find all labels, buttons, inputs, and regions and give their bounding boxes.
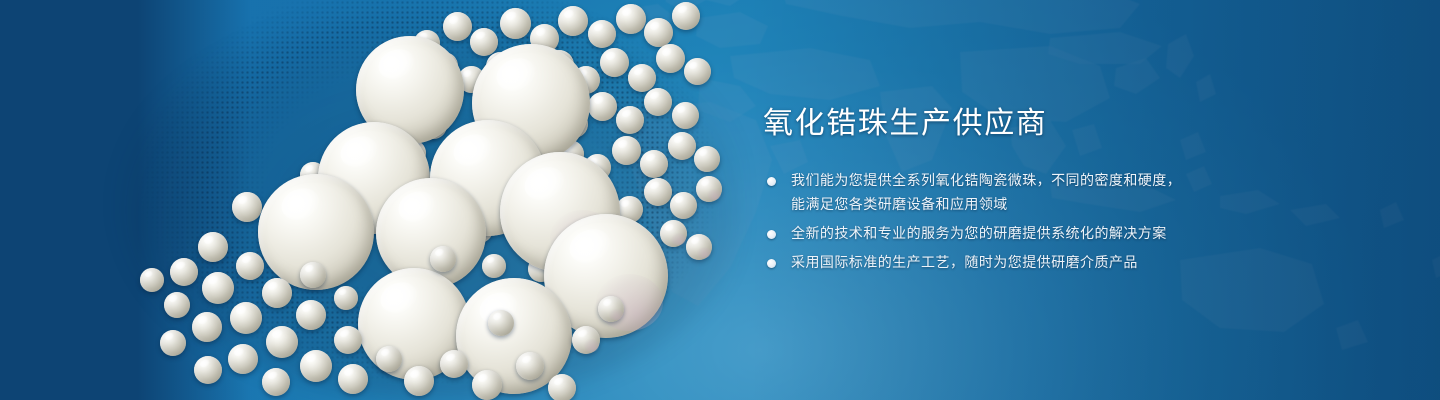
list-item-line: 我们能为您提供全系列氧化锆陶瓷微珠，不同的密度和硬度， [791,169,1383,193]
banner-text-column: 氧化锆珠生产供应商 我们能为您提供全系列氧化锆陶瓷微珠，不同的密度和硬度， 能满… [763,104,1383,280]
list-item: 采用国际标准的生产工艺，随时为您提供研磨介质产品 [763,251,1383,275]
product-hero-banner: 氧化锆珠生产供应商 我们能为您提供全系列氧化锆陶瓷微珠，不同的密度和硬度， 能满… [0,0,1440,400]
list-item-line: 采用国际标准的生产工艺，随时为您提供研磨介质产品 [791,251,1383,275]
bullet-dot-icon [767,177,776,186]
list-item: 我们能为您提供全系列氧化锆陶瓷微珠，不同的密度和硬度， 能满足您各类研磨设备和应… [763,169,1383,217]
bullet-dot-icon [767,259,776,268]
banner-headline: 氧化锆珠生产供应商 [763,104,1383,144]
list-item: 全新的技术和专业的服务为您的研磨提供系统化的解决方案 [763,222,1383,246]
list-item-line: 全新的技术和专业的服务为您的研磨提供系统化的解决方案 [791,222,1383,246]
bullet-dot-icon [767,230,776,239]
zirconia-beads-image [0,0,760,400]
banner-feature-list: 我们能为您提供全系列氧化锆陶瓷微珠，不同的密度和硬度， 能满足您各类研磨设备和应… [763,169,1383,275]
list-item-line: 能满足您各类研磨设备和应用领域 [791,193,1383,217]
